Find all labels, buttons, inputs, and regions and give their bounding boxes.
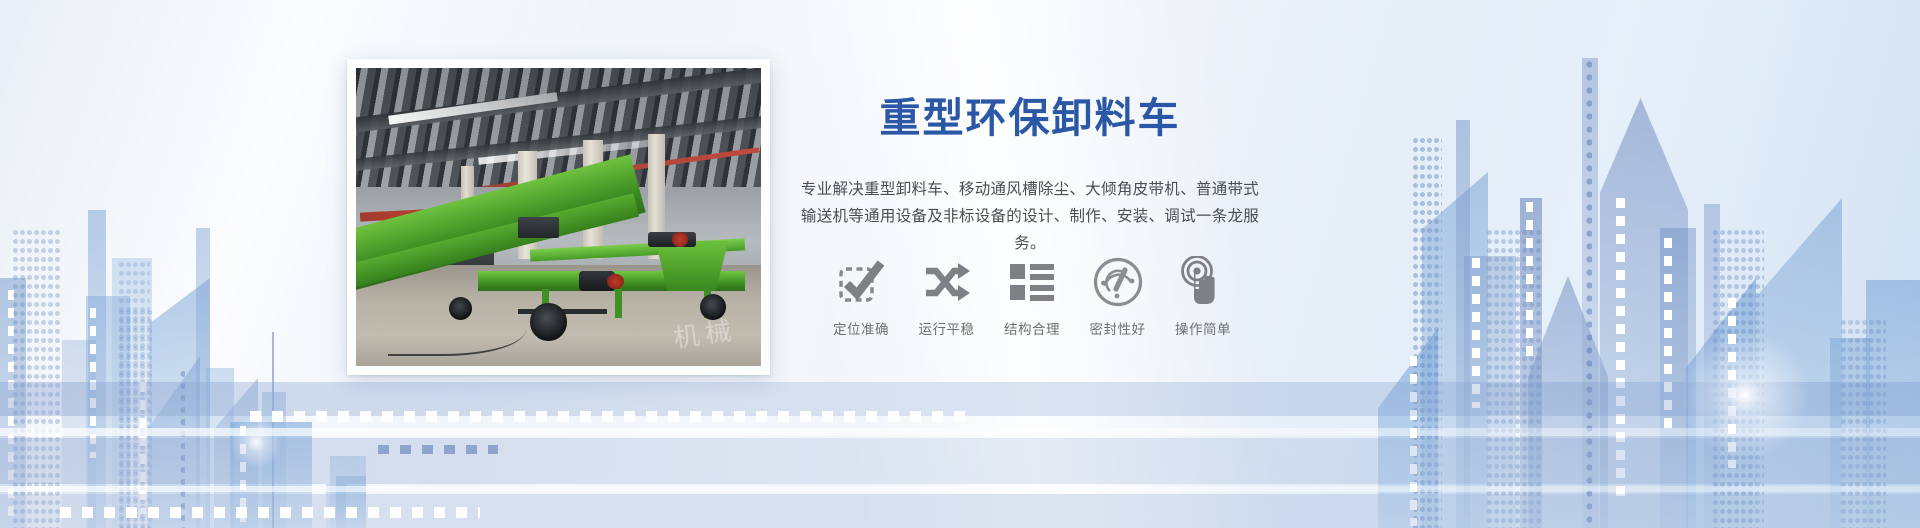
building-dot-texture <box>1486 228 1542 528</box>
list-blocks-icon <box>993 254 1071 310</box>
banner-copy: 重型环保卸料车 专业解决重型卸料车、移动通风槽除尘、大倾角皮带机、普通带式输送机… <box>800 96 1260 258</box>
building-angled <box>150 278 210 528</box>
building-angled <box>1600 98 1688 528</box>
building-angled <box>214 378 258 528</box>
building <box>62 340 96 528</box>
building-dot-texture <box>118 308 154 528</box>
building <box>1456 120 1470 528</box>
building-angled <box>1686 278 1756 528</box>
feature-list: 定位准确 运行平稳 <box>822 254 1242 338</box>
building <box>1582 58 1598 528</box>
product-banner: 机械 重型环保卸料车 专业解决重型卸料车、移动通风槽除尘、大倾角皮带机、普通带式… <box>0 0 1920 528</box>
building <box>326 484 346 528</box>
building-windows <box>90 308 96 458</box>
touch-hand-icon <box>1164 254 1242 310</box>
building-windows <box>8 290 14 518</box>
building <box>1520 198 1542 528</box>
building-windows <box>1526 202 1533 358</box>
building <box>206 368 234 528</box>
conveyor-drum-hub <box>672 232 688 247</box>
building-dot-texture <box>118 260 150 528</box>
building-windows <box>1410 356 1417 526</box>
conveyor-roller-hub <box>607 274 624 289</box>
feature-label: 密封性好 <box>1079 318 1157 338</box>
building-windows <box>140 382 146 514</box>
building-dot-texture <box>1712 228 1764 528</box>
city-skyline-right <box>1360 58 1920 528</box>
building <box>1464 256 1516 528</box>
seal-gauge-icon <box>1079 254 1157 310</box>
sparkle-right <box>1650 300 1840 490</box>
building <box>88 210 106 528</box>
building <box>86 296 130 528</box>
feature-label: 结构合理 <box>993 318 1071 338</box>
conveyor-motor <box>518 217 559 238</box>
building-dot-texture <box>1840 318 1886 528</box>
conveyor-support-leg <box>615 289 621 319</box>
building-dot-texture <box>180 368 185 528</box>
building <box>0 278 26 528</box>
feature-item-structure[interactable]: 结构合理 <box>993 254 1071 338</box>
building-windows <box>1472 258 1480 408</box>
feature-item-smooth-operation[interactable]: 运行平稳 <box>908 254 986 338</box>
product-photo: 机械 <box>356 68 761 366</box>
building <box>112 258 152 528</box>
dot-row <box>378 445 498 454</box>
dot-row-lower <box>60 507 480 518</box>
building-angled <box>1756 198 1842 528</box>
building-dot-texture <box>1412 136 1442 528</box>
dot-row-upper <box>250 411 970 422</box>
building <box>1660 228 1696 528</box>
building-windows <box>1616 198 1625 498</box>
building <box>1704 204 1720 528</box>
building-dot-texture <box>1586 58 1592 528</box>
building-angled <box>1422 172 1488 528</box>
building-angled <box>1378 328 1438 528</box>
building-angled <box>148 356 200 528</box>
wheel <box>530 303 566 340</box>
background-sheen-right <box>1172 0 1920 528</box>
building <box>272 332 274 528</box>
feature-item-easy-operation[interactable]: 操作简单 <box>1164 254 1242 338</box>
background-band <box>0 486 1920 492</box>
building <box>196 228 210 528</box>
banner-description: 专业解决重型卸料车、移动通风槽除尘、大倾角皮带机、普通带式输送机等通用设备及非标… <box>800 176 1260 258</box>
page-title: 重型环保卸料车 <box>800 96 1260 142</box>
background-band <box>0 438 1920 484</box>
building <box>1866 280 1920 528</box>
building <box>1830 338 1870 528</box>
product-photo-card[interactable]: 机械 <box>347 59 770 375</box>
feature-label: 操作简单 <box>1164 318 1242 338</box>
building-dot-texture <box>12 228 60 528</box>
building-angled <box>1528 276 1608 528</box>
building-windows <box>1728 298 1736 468</box>
feature-label: 定位准确 <box>822 318 900 338</box>
building <box>336 476 366 528</box>
feature-item-sealing[interactable]: 密封性好 <box>1079 254 1157 338</box>
building-windows <box>1664 238 1672 428</box>
background-band <box>0 428 1920 436</box>
feature-label: 运行平稳 <box>908 318 986 338</box>
dashed-box-check-icon <box>822 254 900 310</box>
feature-item-positioning[interactable]: 定位准确 <box>822 254 900 338</box>
shuffle-arrows-icon <box>908 254 986 310</box>
